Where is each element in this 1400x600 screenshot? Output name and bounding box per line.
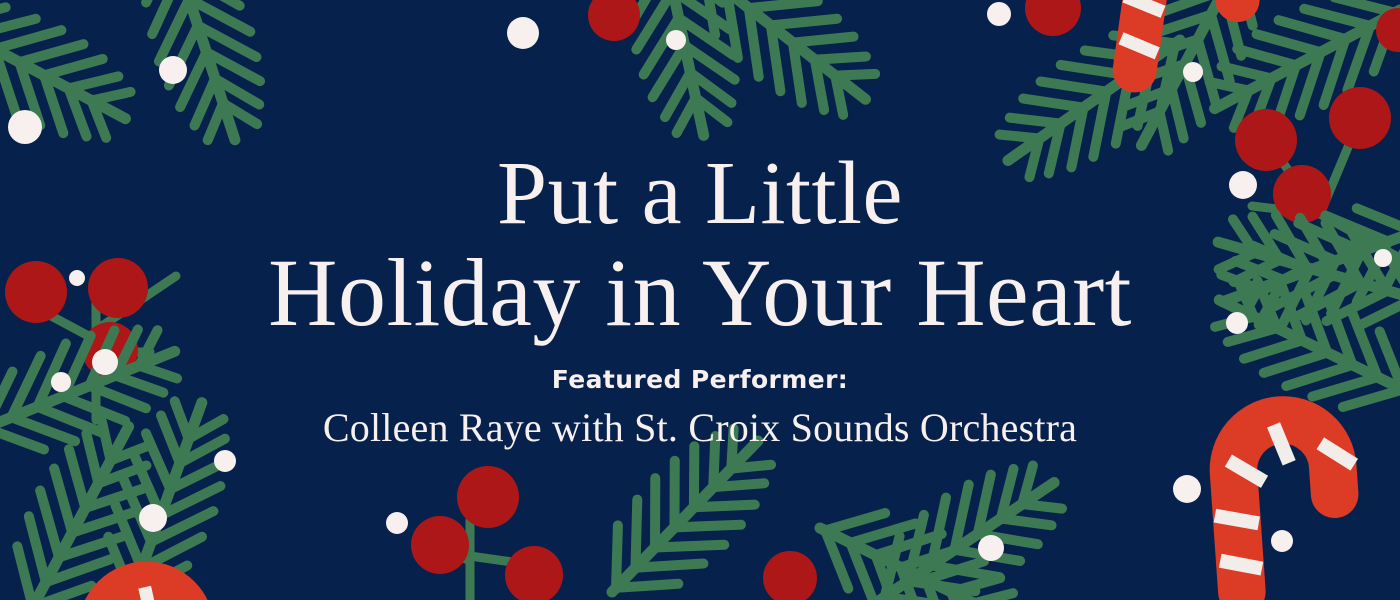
holiday-event-banner: Put a Little Holiday in Your Heart Featu… [0, 0, 1400, 600]
pine-branch [577, 408, 792, 600]
berry-sprig [411, 466, 563, 600]
candy-cane [1209, 415, 1363, 593]
decorative-border-artwork [0, 0, 1400, 600]
pine-branch [124, 0, 280, 155]
pine-branch [853, 443, 1081, 600]
berry [763, 551, 817, 600]
